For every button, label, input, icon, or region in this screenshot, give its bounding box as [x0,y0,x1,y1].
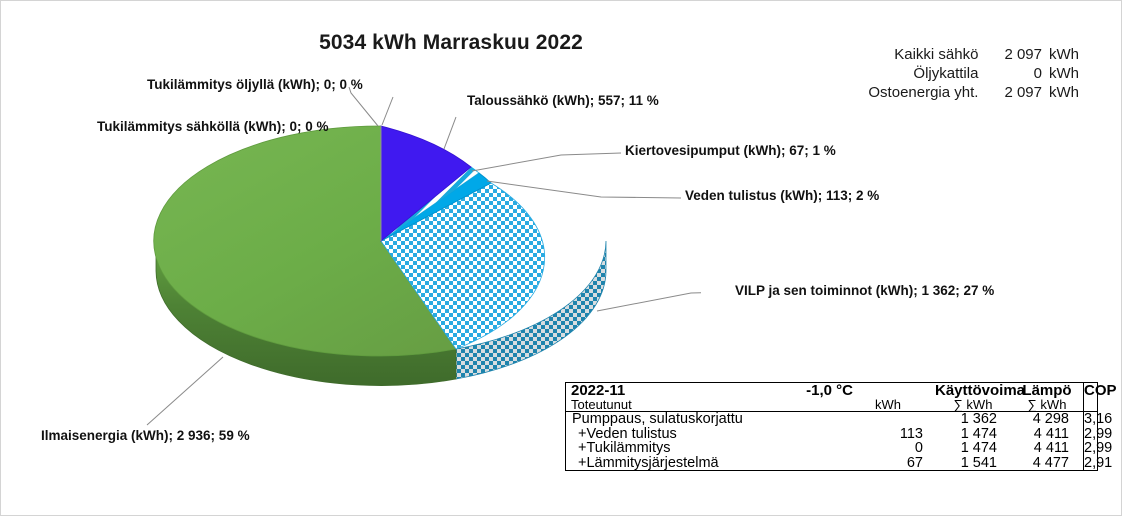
slice-label-vilp: VILP ja sen toiminnot (kWh); 1 362; 27 % [735,283,994,298]
summary-value: 2 097 [1004,45,1049,64]
leader-line-ilmaisenergia [147,357,223,425]
summary-table: Kaikki sähkö 2 097 kWh Öljykattila 0 kWh… [868,45,1079,102]
table-row: +Veden tulistus 113 1 474 4 411 2,99 [566,427,1098,442]
summary-unit: kWh [1049,45,1079,64]
pie-chart [1,1,701,431]
data-table: 2022-11 -1,0 °C Käyttövoima Lämpö COP To… [565,382,1098,471]
header-spacer [867,383,935,399]
table-row: Pumppaus, sulatuskorjattu 1 362 4 298 3,… [566,412,1098,427]
slice-label-tukilammitys-oljylla: Tukilämmitys öljyllä (kWh); 0; 0 % [147,77,363,92]
slice-label-tukilammitys-sahkolla: Tukilämmitys sähköllä (kWh); 0; 0 % [97,119,329,134]
row-kwh: 113 [867,427,935,442]
row-sum-kwh: 1 474 [935,427,1011,442]
summary-row: Ostoenergia yht. 2 097 kWh [868,83,1079,102]
header-sub-spacer [767,398,867,412]
leader-line-kiertovesipumput [472,153,621,171]
table-header-row-primary: 2022-11 -1,0 °C Käyttövoima Lämpö COP [566,383,1098,399]
slice-label-ilmaisenergia: Ilmaisenergia (kWh); 2 936; 59 % [41,428,250,443]
table-row: +Lämmitysjärjestelmä 67 1 541 4 477 2,91 [566,456,1098,471]
pie-chart-svg [1,1,701,431]
row-spacer [767,456,867,471]
row-lampo: 4 477 [1011,456,1084,471]
row-cop: 2,99 [1084,441,1098,456]
table-row: +Tukilämmitys 0 1 474 4 411 2,99 [566,441,1098,456]
row-spacer [767,412,867,427]
row-sum-kwh: 1 474 [935,441,1011,456]
leader-line-tukilammitys-oljylla [349,87,378,126]
slice-label-kiertovesipumput: Kiertovesipumput (kWh); 67; 1 % [625,143,836,158]
header-sub-kwh: kWh [867,398,935,412]
header-lampo: Lämpö [1011,383,1084,399]
summary-label: Öljykattila [868,64,1004,83]
leader-line-taloussahko [444,117,456,149]
summary-value: 2 097 [1004,83,1049,102]
row-cop: 3,16 [1084,412,1098,427]
header-sub-cop [1084,398,1098,412]
leader-line-vilp [597,292,701,311]
summary-row: Öljykattila 0 kWh [868,64,1079,83]
row-name: +Veden tulistus [566,427,768,442]
header-sub-lampo: ∑ kWh [1011,398,1084,412]
row-cop: 2,99 [1084,427,1098,442]
table-header-row-secondary: Toteutunut kWh ∑ kWh ∑ kWh [566,398,1098,412]
header-sub-sum-kwh: ∑ kWh [935,398,1011,412]
header-rowlabel: Toteutunut [566,398,768,412]
summary-unit: kWh [1049,83,1079,102]
leader-line-tukilammitys-sahkolla [382,97,393,125]
row-name: +Lämmitysjärjestelmä [566,456,768,471]
row-spacer [767,441,867,456]
leader-line-veden-tulistus [487,181,681,198]
row-lampo: 4 411 [1011,427,1084,442]
row-kwh [867,412,935,427]
header-cop: COP [1084,383,1098,399]
slice-label-veden-tulistus: Veden tulistus (kWh); 113; 2 % [685,188,879,203]
summary-value: 0 [1004,64,1049,83]
row-sum-kwh: 1 362 [935,412,1011,427]
header-period: 2022-11 [566,383,768,399]
row-lampo: 4 411 [1011,441,1084,456]
header-kayttovoima: Käyttövoima [935,383,1011,399]
row-cop: 2,91 [1084,456,1098,471]
row-spacer [767,427,867,442]
row-kwh: 67 [867,456,935,471]
row-sum-kwh: 1 541 [935,456,1011,471]
summary-label: Ostoenergia yht. [868,83,1004,102]
header-temperature: -1,0 °C [767,383,867,399]
row-name: Pumppaus, sulatuskorjattu [566,412,768,427]
summary-label: Kaikki sähkö [868,45,1004,64]
summary-unit: kWh [1049,64,1079,83]
slice-label-taloussahko: Taloussähkö (kWh); 557; 11 % [467,93,659,108]
row-kwh: 0 [867,441,935,456]
row-lampo: 4 298 [1011,412,1084,427]
chart-page: 5034 kWh Marraskuu 2022 Kaikki sähkö 2 0… [0,0,1122,516]
row-name: +Tukilämmitys [566,441,768,456]
summary-row: Kaikki sähkö 2 097 kWh [868,45,1079,64]
